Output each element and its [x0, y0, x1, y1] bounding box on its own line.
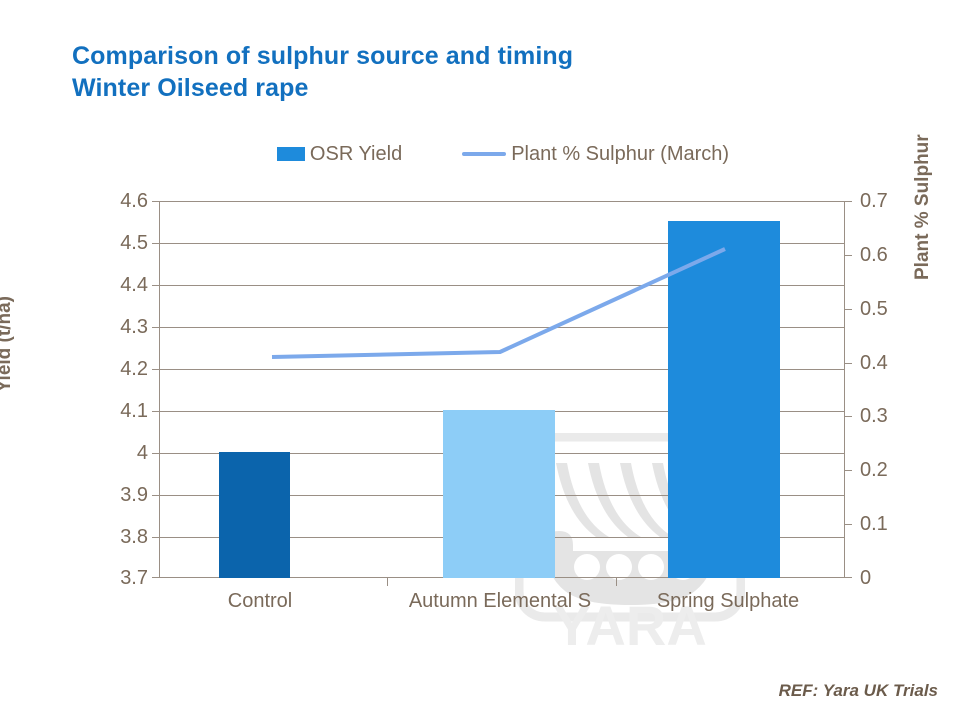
y-tick-mark [152, 537, 159, 538]
y-tick-mark [152, 495, 159, 496]
legend-item-plant-sulphur[interactable]: Plant % Sulphur (March) [462, 143, 729, 166]
y2-tick-mark [845, 470, 852, 471]
y-tick-label-left: 4.5 [100, 233, 148, 253]
y-tick-label-left: 3.8 [100, 527, 148, 547]
y-tick-mark [152, 243, 159, 244]
y2-tick-mark [845, 363, 852, 364]
x-axis-label-autumn-elemental-s: Autumn Elemental S [385, 589, 615, 613]
y-tick-mark [152, 453, 159, 454]
reference-note: REF: Yara UK Trials [779, 681, 938, 701]
y-tick-mark [152, 327, 159, 328]
y-tick-label-left: 3.7 [100, 568, 148, 588]
y2-tick-label-right: 0 [860, 568, 908, 588]
y-tick-label-left: 3.9 [100, 485, 148, 505]
y2-tick-label-right: 0.1 [860, 514, 908, 534]
chart-title-line1: Comparison of sulphur source and timing [72, 42, 573, 70]
y-tick-label-left: 4.4 [100, 275, 148, 295]
y-tick-label-left: 4 [100, 443, 148, 463]
y-tick-mark [152, 411, 159, 412]
y-tick-label-left: 4.2 [100, 359, 148, 379]
x-category-tick [616, 578, 617, 586]
legend-label-plant-sulphur: Plant % Sulphur (March) [511, 143, 729, 166]
x-axis-label-control: Control [180, 589, 340, 613]
y2-tick-label-right: 0.3 [860, 406, 908, 426]
y-tick-mark [152, 577, 159, 578]
y2-tick-label-right: 0.7 [860, 191, 908, 211]
y-tick-label-left: 4.1 [100, 401, 148, 421]
chart-legend: OSR Yield Plant % Sulphur (March) [160, 139, 846, 169]
y2-tick-mark [845, 201, 852, 202]
y-tick-mark [152, 201, 159, 202]
line-path-plant-sulphur[interactable] [272, 249, 725, 357]
chart-title: Comparison of sulphur source and timing … [72, 40, 892, 104]
legend-label-osr-yield: OSR Yield [310, 143, 402, 166]
y-tick-label-left: 4.3 [100, 317, 148, 337]
line-series-plant-sulphur [159, 201, 845, 578]
y2-tick-mark [845, 416, 852, 417]
y2-tick-mark [845, 577, 852, 578]
chart-page: Comparison of sulphur source and timing … [0, 0, 960, 720]
legend-line-swatch-icon [462, 152, 506, 156]
y2-tick-label-right: 0.2 [860, 460, 908, 480]
x-category-tick [387, 578, 388, 586]
x-axis-label-spring-sulphate: Spring Sulphate [628, 589, 828, 613]
y-tick-mark [152, 369, 159, 370]
y2-tick-label-right: 0.6 [860, 245, 908, 265]
y-axis-title-right: Plant % Sulphur [912, 134, 934, 280]
y-tick-mark [152, 285, 159, 286]
plot-area: YARA [159, 201, 845, 578]
y2-tick-mark [845, 309, 852, 310]
y2-tick-label-right: 0.5 [860, 299, 908, 319]
chart-title-line2: Winter Oilseed rape [72, 72, 892, 104]
y2-tick-label-right: 0.4 [860, 353, 908, 373]
legend-bar-swatch-icon [277, 147, 305, 161]
y2-tick-mark [845, 255, 852, 256]
y2-tick-mark [845, 524, 852, 525]
y-axis-title-left: Yield (t/ha) [0, 296, 16, 392]
legend-item-osr-yield[interactable]: OSR Yield [277, 143, 402, 166]
y-tick-label-left: 4.6 [100, 191, 148, 211]
